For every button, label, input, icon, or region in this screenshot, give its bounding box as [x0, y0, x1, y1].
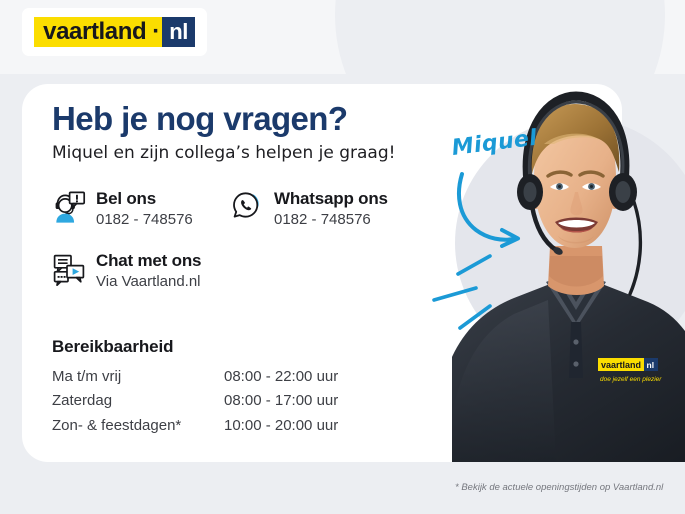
contact-block-whatsapp[interactable]: Whatsapp ons 0182 - 748576	[230, 188, 388, 232]
svg-text:vaartland: vaartland	[601, 360, 641, 370]
contact-block-chat[interactable]: Chat met ons Via Vaartland.nl	[52, 250, 201, 294]
availability-time: 10:00 - 20:00 uur	[224, 414, 338, 438]
contact-call-number[interactable]: 0182 - 748576	[96, 209, 193, 232]
footnote-text: * Bekijk de actuele openingstijden op Va…	[455, 482, 663, 493]
contact-block-call[interactable]: Bel ons 0182 - 748576	[52, 188, 193, 232]
contact-whatsapp-title: Whatsapp ons	[274, 188, 388, 209]
availability-day: Ma t/m vrij	[52, 365, 224, 389]
table-row: Ma t/m vrij 08:00 - 22:00 uur	[52, 365, 338, 389]
contact-whatsapp-text: Whatsapp ons 0182 - 748576	[274, 188, 388, 232]
contact-whatsapp-number[interactable]: 0182 - 748576	[274, 209, 388, 232]
logo-wordmark: vaartland	[34, 17, 152, 47]
logo-inner: vaartland · nl	[34, 17, 195, 47]
contact-chat-title: Chat met ons	[96, 250, 201, 271]
svg-text:doe jezelf een plezier: doe jezelf een plezier	[600, 376, 662, 383]
svg-text:nl: nl	[647, 360, 655, 370]
chat-bubbles-icon	[52, 251, 86, 289]
availability-day: Zon- & feestdagen*	[52, 414, 224, 438]
polo-logo: vaartland nl doe jezelf een plezier	[598, 358, 662, 383]
headset-person-icon	[52, 189, 86, 227]
availability-time: 08:00 - 22:00 uur	[224, 365, 338, 389]
contact-call-title: Bel ons	[96, 188, 193, 209]
contact-call-text: Bel ons 0182 - 748576	[96, 188, 193, 232]
contact-card-page: vaartland · nl	[0, 0, 685, 514]
availability-title: Bereikbaarheid	[52, 337, 173, 357]
availability-day: Zaterdag	[52, 389, 224, 413]
availability-table: Ma t/m vrij 08:00 - 22:00 uur Zaterdag 0…	[52, 365, 338, 438]
availability-time: 08:00 - 17:00 uur	[224, 389, 338, 413]
table-row: Zon- & feestdagen* 10:00 - 20:00 uur	[52, 414, 338, 438]
miquel-arrow-icon	[440, 168, 550, 248]
logo-tld: nl	[162, 17, 195, 47]
table-row: Zaterdag 08:00 - 17:00 uur	[52, 389, 338, 413]
contact-chat-link[interactable]: Via Vaartland.nl	[96, 271, 201, 294]
contact-chat-text: Chat met ons Via Vaartland.nl	[96, 250, 201, 294]
whatsapp-icon	[230, 189, 264, 227]
logo-dot-separator: ·	[152, 17, 162, 47]
decorative-dashes	[432, 248, 532, 344]
page-subtitle: Miquel en zijn collega’s helpen je graag…	[52, 143, 395, 163]
vaartland-logo[interactable]: vaartland · nl	[22, 8, 207, 56]
page-title: Heb je nog vragen?	[52, 100, 347, 138]
